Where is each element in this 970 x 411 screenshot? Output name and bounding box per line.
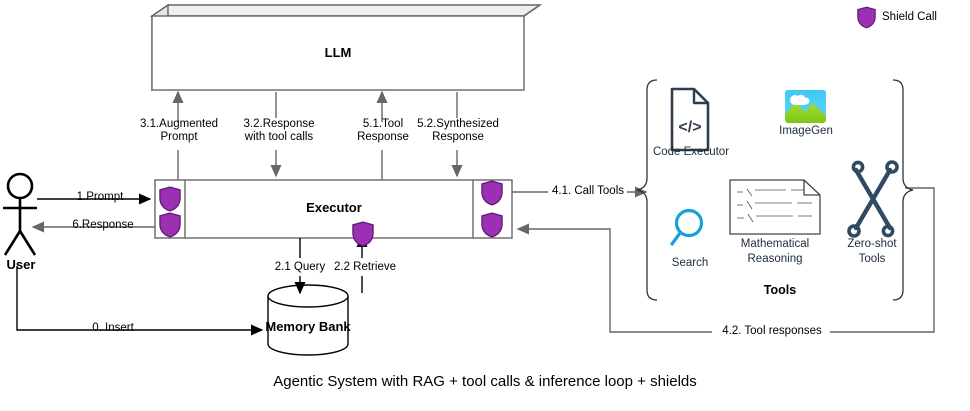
user-node[interactable] [3, 174, 37, 255]
tool-label-imagegen: ImageGen [766, 125, 846, 138]
edge-label-insert: 0. Insert [68, 322, 158, 335]
shield-icon-executor-tools-in [482, 213, 502, 237]
shield-icon-executor-tools-out [482, 181, 502, 205]
image-gen-icon [785, 90, 826, 123]
memory-bank-label: Memory Bank [256, 320, 360, 333]
legend-shield-label: Shield Call [882, 11, 970, 24]
user-label: User [0, 258, 42, 271]
diagram-canvas: </> [0, 0, 970, 411]
tool-label-zero-shot-tools: Zero-shot Tools [838, 237, 906, 267]
svg-text:</>: </> [678, 119, 701, 136]
tool-label-search: Search [652, 257, 728, 270]
edge-label-prompt: 1.Prompt [60, 191, 140, 204]
edge-label-call-tools: 4.1. Call Tools [543, 185, 633, 198]
llm-label: LLM [286, 46, 390, 59]
shield-icon-legend [858, 7, 875, 28]
edge-label-retrieve: 2.2 Retrieve [320, 261, 410, 274]
edge-label-response: 6.Response [58, 219, 148, 232]
edge-label-augmented-prompt: 3.1.Augmented Prompt [133, 118, 225, 144]
shield-icon-executor-in [160, 187, 180, 211]
edge-label-synthesized-response: 5.2.Synthesized Response [408, 118, 508, 144]
magnifier-icon [672, 211, 702, 245]
diagram-caption: Agentic System with RAG + tool calls & i… [185, 375, 785, 388]
shield-icon-executor-out [160, 213, 180, 237]
edge-insert [17, 266, 262, 330]
tool-label-mathematical-reasoning: Mathematical Reasoning [729, 237, 821, 267]
shield-icon-memory [353, 222, 373, 246]
executor-label: Executor [282, 201, 386, 214]
crossed-wrenches-icon [849, 162, 897, 236]
tools-group-label: Tools [735, 284, 825, 297]
tool-label-code-executor: Code Executor [645, 146, 737, 159]
code-document-icon: </> [672, 89, 708, 150]
edge-label-response-with-tool-calls: 3.2.Response with tool calls [230, 118, 328, 144]
edge-label-tool-responses: 4.2. Tool responses [714, 325, 830, 338]
math-document-icon [730, 180, 820, 234]
